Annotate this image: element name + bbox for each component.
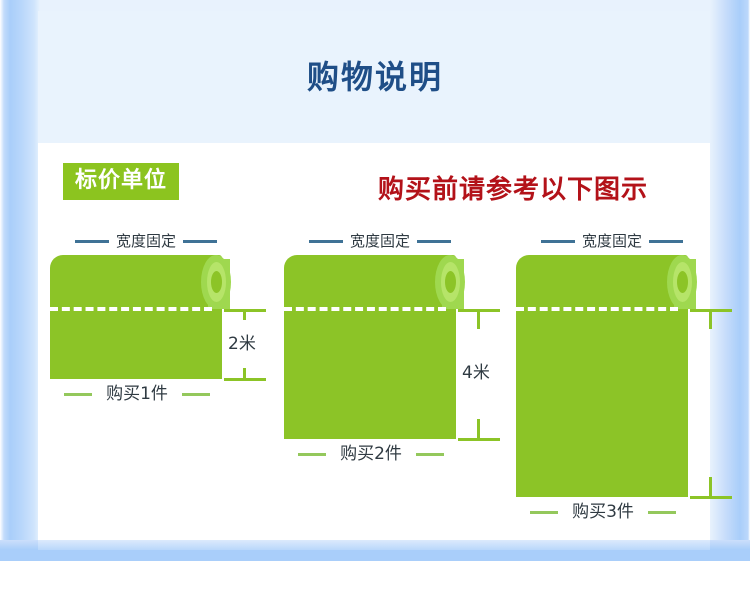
width-dash-right-icon bbox=[649, 240, 683, 243]
dim-top-stub-icon bbox=[243, 309, 246, 320]
buy-dash-left-icon bbox=[64, 393, 92, 396]
dim-bottom-bar-icon bbox=[224, 378, 266, 381]
buy-caption-3: 购买3件 bbox=[510, 501, 696, 523]
dim-bottom-stub-icon bbox=[477, 419, 480, 439]
buy-caption-label: 购买2件 bbox=[340, 446, 402, 463]
buy-dash-left-icon bbox=[530, 511, 558, 514]
roll-end-hole-1 bbox=[211, 271, 222, 293]
roll-end-hole-3 bbox=[677, 271, 688, 293]
page-bottom-frame-inner bbox=[38, 540, 710, 550]
roll-diagram-3: 宽度固定 购买3件 bbox=[504, 231, 712, 591]
buy-dash-left-icon bbox=[298, 453, 326, 456]
roll-diagram-2: 宽度固定 4米 购买2件 bbox=[272, 231, 507, 531]
dim-bottom-bar-icon bbox=[690, 496, 732, 499]
dim-top-stub-icon bbox=[477, 309, 480, 329]
buy-dash-right-icon bbox=[182, 393, 210, 396]
page-root: 购物说明 标价单位 购买前请参考以下图示 宽度固定 bbox=[0, 0, 750, 561]
length-value-2: 4米 bbox=[462, 365, 490, 382]
content-card: 标价单位 购买前请参考以下图示 宽度固定 2米 bbox=[38, 143, 710, 540]
width-dash-right-icon bbox=[183, 240, 217, 243]
tear-line-2 bbox=[284, 307, 446, 311]
width-caption-label: 宽度固定 bbox=[350, 234, 410, 249]
width-caption-2: 宽度固定 bbox=[280, 231, 480, 251]
length-value-1: 2米 bbox=[228, 336, 256, 353]
width-caption-label: 宽度固定 bbox=[582, 234, 642, 249]
width-dash-left-icon bbox=[541, 240, 575, 243]
tear-line-1 bbox=[50, 307, 212, 311]
buy-caption-label: 购买1件 bbox=[106, 386, 168, 403]
width-caption-label: 宽度固定 bbox=[116, 234, 176, 249]
width-dash-right-icon bbox=[417, 240, 451, 243]
width-dash-left-icon bbox=[75, 240, 109, 243]
buy-dash-right-icon bbox=[416, 453, 444, 456]
length-dimension-3 bbox=[690, 309, 736, 499]
dim-bottom-stub-icon bbox=[709, 477, 712, 497]
buy-dash-right-icon bbox=[648, 511, 676, 514]
tear-line-3 bbox=[516, 307, 678, 311]
paper-body-2 bbox=[284, 255, 456, 439]
price-unit-badge: 标价单位 bbox=[63, 163, 179, 200]
dim-bottom-bar-icon bbox=[458, 438, 500, 441]
width-caption-1: 宽度固定 bbox=[46, 231, 246, 251]
width-caption-3: 宽度固定 bbox=[512, 231, 712, 251]
width-dash-left-icon bbox=[309, 240, 343, 243]
buy-caption-label: 购买3件 bbox=[572, 504, 634, 521]
roll-end-hole-2 bbox=[445, 271, 456, 293]
page-bottom-frame bbox=[0, 540, 750, 561]
paper-body-1 bbox=[50, 255, 222, 379]
page-title: 购物说明 bbox=[0, 52, 750, 98]
notice-heading: 购买前请参考以下图示 bbox=[378, 169, 648, 206]
length-dimension-2: 4米 bbox=[458, 309, 504, 441]
length-dimension-1: 2米 bbox=[224, 309, 270, 381]
buy-caption-2: 购买2件 bbox=[278, 443, 464, 465]
paper-body-3 bbox=[516, 255, 688, 497]
buy-caption-1: 购买1件 bbox=[44, 383, 230, 405]
roll-diagram-1: 宽度固定 2米 购买1件 bbox=[38, 231, 270, 491]
dim-top-stub-icon bbox=[709, 309, 712, 329]
